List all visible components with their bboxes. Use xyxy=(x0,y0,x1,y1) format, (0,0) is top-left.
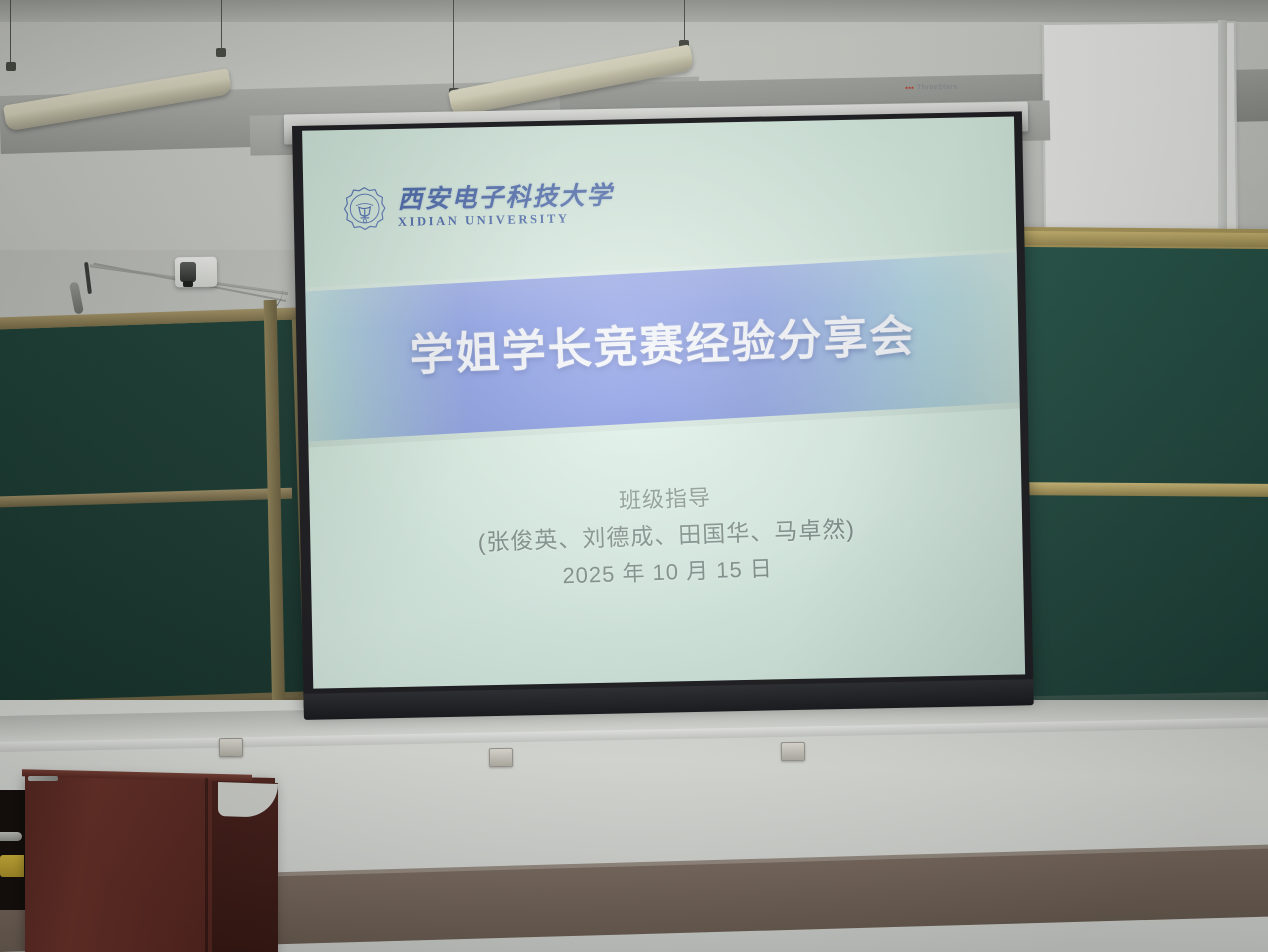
light-wire-right-b xyxy=(684,0,685,44)
wall-panel-white xyxy=(1042,21,1238,245)
blackboard-right-top-rail xyxy=(1006,231,1268,247)
blackboard-right xyxy=(1010,247,1268,715)
podium-pipe xyxy=(0,832,22,841)
slide-surface: 西安电子科技大学 XIDIAN UNIVERSITY 学姐学长竞赛经验分享会 班… xyxy=(302,117,1025,689)
lectern-metal-clip xyxy=(28,776,58,781)
light-wire-left-a xyxy=(10,0,11,66)
light-cap-left-a xyxy=(6,62,16,71)
projector-screen-brand: ThreeStars xyxy=(905,84,958,92)
brand-label: ThreeStars xyxy=(917,84,958,92)
xidian-university-emblem xyxy=(341,185,388,232)
logo-chinese-name: 西安电子科技大学 xyxy=(397,183,613,212)
light-cap-left-b xyxy=(216,48,226,57)
wall-clip-3 xyxy=(781,742,805,761)
three-stars-mark xyxy=(905,85,914,91)
university-logo: 西安电子科技大学 XIDIAN UNIVERSITY xyxy=(341,181,614,232)
camera-lens-icon xyxy=(180,262,196,282)
wall-clip-1 xyxy=(219,738,243,757)
projection-screen: 西安电子科技大学 XIDIAN UNIVERSITY 学姐学长竞赛经验分享会 班… xyxy=(292,111,1034,726)
blackboard-right-divider xyxy=(1008,482,1268,497)
camera-sensor-icon xyxy=(183,281,193,287)
lectern-seam xyxy=(205,778,208,952)
light-wire-left-b xyxy=(221,0,222,52)
slide-subtitle-block: 班级指导 (张俊英、刘德成、田国华、马卓然) 2025 年 10 月 15 日 xyxy=(309,469,1024,603)
logo-text-block: 西安电子科技大学 XIDIAN UNIVERSITY xyxy=(397,183,614,228)
podium-yellow-object xyxy=(0,855,24,877)
ceiling-soffit xyxy=(0,0,1268,22)
wall-panel-seam xyxy=(1218,20,1227,242)
light-wire-right-a xyxy=(453,0,454,92)
wall-clip-2 xyxy=(489,748,513,767)
logo-english-name: XIDIAN UNIVERSITY xyxy=(398,211,614,228)
blackboard-left xyxy=(0,320,304,702)
classroom-photo: ThreeStars 西安电子科技大学 XIDIAN UNIVERSITY xyxy=(0,0,1268,952)
